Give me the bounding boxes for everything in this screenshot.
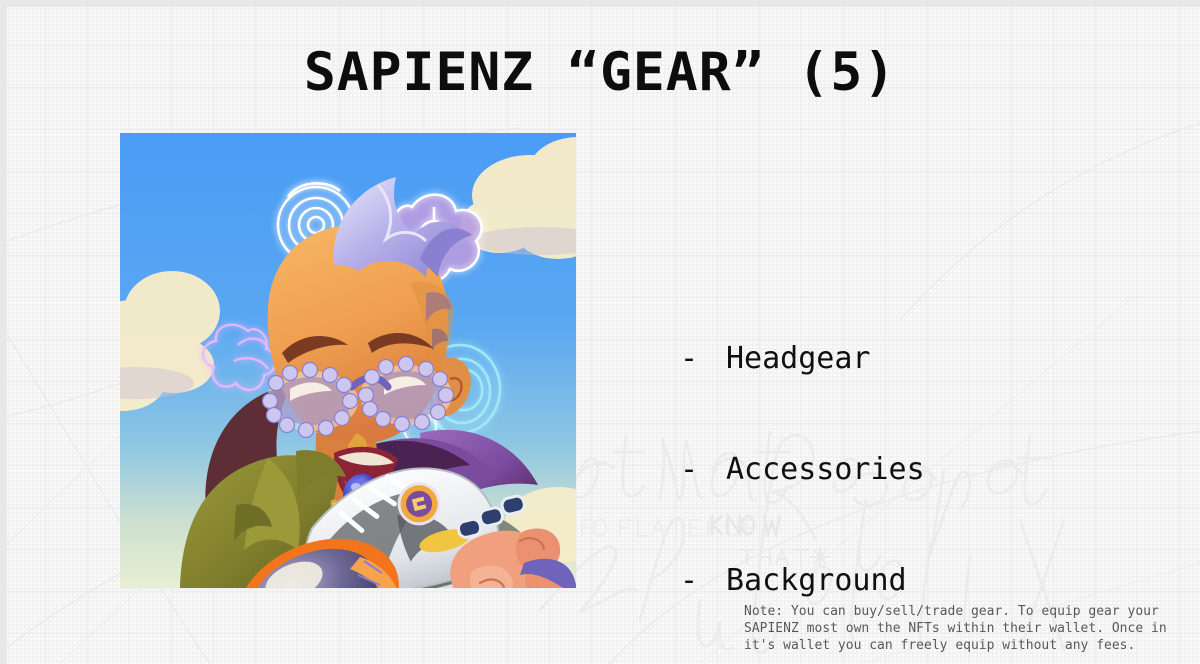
list-item: -Background <box>680 562 925 599</box>
list-item-label: Headgear <box>726 341 871 376</box>
list-item-label: Accessories <box>726 452 925 487</box>
page-title: SAPIENZ “GEAR” (5) <box>0 42 1200 103</box>
artwork-illustration <box>120 133 576 588</box>
list-item-label: Background <box>726 563 907 598</box>
footnote: Note: You can buy/sell/trade gear. To eq… <box>744 603 1174 654</box>
list-bullet: - <box>680 562 726 599</box>
list-bullet: - <box>680 340 726 377</box>
list-item: -Headgear <box>680 340 925 377</box>
list-bullet: - <box>680 451 726 488</box>
list-item: -Accessories <box>680 451 925 488</box>
sapienz-nft-artwork <box>120 133 576 588</box>
